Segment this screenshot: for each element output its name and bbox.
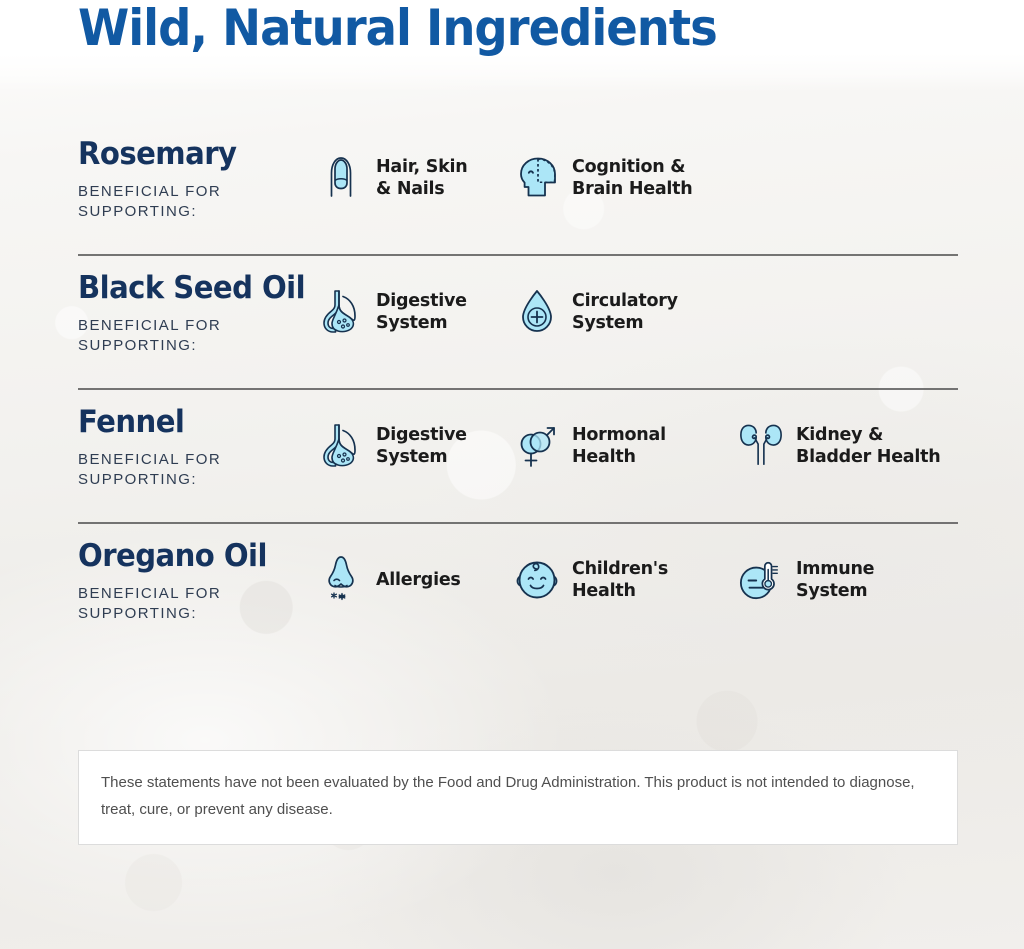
benefit-label: Digestive System bbox=[376, 290, 467, 335]
benefit-label: Hormonal Health bbox=[572, 424, 666, 469]
fingernail-icon bbox=[318, 152, 364, 204]
benefit-item: Circulatory System bbox=[514, 286, 738, 338]
benefit-item: Hormonal Health bbox=[514, 420, 738, 472]
benefit-item: Immune System bbox=[738, 554, 874, 606]
ingredient-name: Fennel bbox=[78, 406, 304, 439]
ingredient-info: Black Seed Oil BENEFICIAL FOR SUPPORTING… bbox=[78, 270, 318, 356]
ingredient-name: Rosemary bbox=[78, 138, 304, 171]
benefit-label: Cognition & Brain Health bbox=[572, 156, 692, 201]
row-divider bbox=[78, 254, 958, 256]
benefit-label: Kidney & Bladder Health bbox=[796, 424, 940, 469]
ingredient-name: Black Seed Oil bbox=[78, 272, 304, 305]
benefit-item: Hair, Skin & Nails bbox=[318, 152, 514, 204]
ingredient-row-rosemary: Rosemary BENEFICIAL FOR SUPPORTING: Hair… bbox=[0, 122, 1024, 254]
ingredient-row-black-seed-oil: Black Seed Oil BENEFICIAL FOR SUPPORTING… bbox=[0, 256, 1024, 388]
kidneys-icon bbox=[738, 420, 784, 472]
benefit-item: Digestive System bbox=[318, 420, 514, 472]
benefit-list: Digestive System bbox=[318, 404, 958, 472]
ingredients-infographic: Wild, Natural Ingredients Rosemary BENEF… bbox=[0, 0, 1024, 949]
page-title: Wild, Natural Ingredients bbox=[78, 0, 717, 55]
benefit-label: Immune System bbox=[796, 558, 874, 603]
disclaimer-container: These statements have not been evaluated… bbox=[0, 750, 1024, 845]
ingredient-subheading: BENEFICIAL FOR SUPPORTING: bbox=[78, 584, 293, 625]
benefit-list: Allergies bbox=[318, 538, 958, 606]
benefit-list: Hair, Skin & Nails Cognition & Brain Hea… bbox=[318, 136, 958, 204]
benefit-item: Kidney & Bladder Health bbox=[738, 420, 940, 472]
row-divider bbox=[78, 388, 958, 390]
ingredient-name: Oregano Oil bbox=[78, 540, 304, 573]
thermometer-face-icon bbox=[738, 554, 784, 606]
benefit-label: Allergies bbox=[376, 569, 461, 591]
ingredient-row-oregano-oil: Oregano Oil BENEFICIAL FOR SUPPORTING: bbox=[0, 524, 1024, 656]
nose-pollen-icon bbox=[318, 554, 364, 606]
benefit-label: Digestive System bbox=[376, 424, 467, 469]
ingredient-subheading: BENEFICIAL FOR SUPPORTING: bbox=[78, 316, 293, 357]
header: Wild, Natural Ingredients bbox=[0, 0, 1024, 92]
ingredient-info: Oregano Oil BENEFICIAL FOR SUPPORTING: bbox=[78, 538, 318, 624]
benefit-label: Hair, Skin & Nails bbox=[376, 156, 467, 201]
stomach-icon bbox=[318, 286, 364, 338]
head-brain-icon bbox=[514, 152, 560, 204]
ingredient-subheading: BENEFICIAL FOR SUPPORTING: bbox=[78, 450, 293, 491]
baby-face-icon bbox=[514, 554, 560, 606]
gender-symbols-icon bbox=[514, 420, 560, 472]
benefit-item: Cognition & Brain Health bbox=[514, 152, 738, 204]
benefit-item: Digestive System bbox=[318, 286, 514, 338]
ingredient-info: Rosemary BENEFICIAL FOR SUPPORTING: bbox=[78, 136, 318, 222]
stomach-icon bbox=[318, 420, 364, 472]
disclaimer-text: These statements have not been evaluated… bbox=[78, 750, 958, 845]
benefit-list: Digestive System Circulatory System bbox=[318, 270, 958, 338]
blood-drop-icon bbox=[514, 286, 560, 338]
ingredient-info: Fennel BENEFICIAL FOR SUPPORTING: bbox=[78, 404, 318, 490]
ingredient-row-fennel: Fennel BENEFICIAL FOR SUPPORTING: bbox=[0, 390, 1024, 522]
benefit-label: Children's Health bbox=[572, 558, 668, 603]
ingredient-list: Rosemary BENEFICIAL FOR SUPPORTING: Hair… bbox=[0, 92, 1024, 656]
benefit-item: Children's Health bbox=[514, 554, 738, 606]
row-divider bbox=[78, 522, 958, 524]
benefit-item: Allergies bbox=[318, 554, 514, 606]
benefit-label: Circulatory System bbox=[572, 290, 678, 335]
ingredient-subheading: BENEFICIAL FOR SUPPORTING: bbox=[78, 182, 293, 223]
